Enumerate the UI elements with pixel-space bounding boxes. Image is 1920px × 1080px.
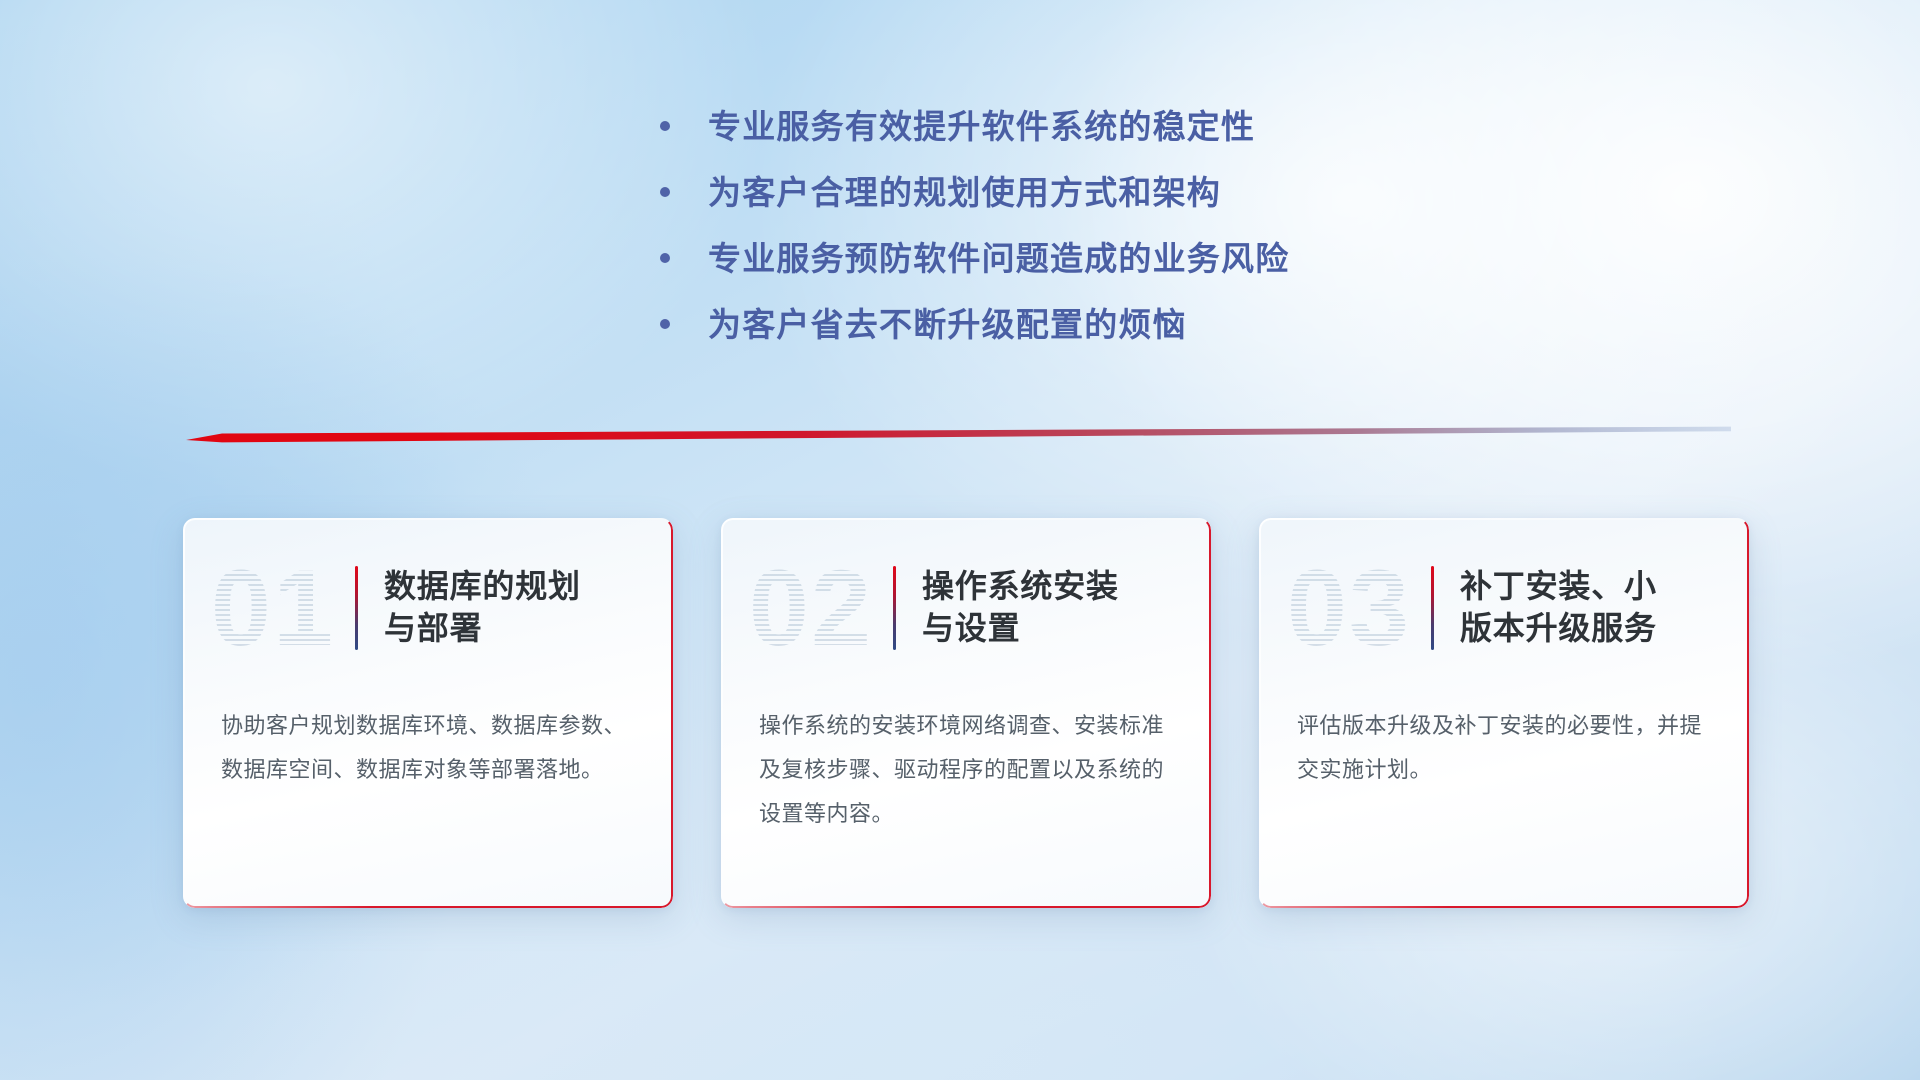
bullet-item-label: 专业服务预防软件问题造成的业务风险 bbox=[708, 240, 1289, 279]
service-card[interactable]: 03 补丁安装、小 版本升级服务 评估版本升级及补丁安装的必要性，并提交实施计划… bbox=[1259, 518, 1749, 908]
card-title-line-1: 数据库的规划 bbox=[384, 566, 581, 608]
bullet-dot-icon bbox=[660, 319, 670, 329]
service-card[interactable]: 01 数据库的规划 与部署 协助客户规划数据库环境、数据库参数、数据库空间、数据… bbox=[183, 518, 673, 908]
bullet-item-label: 为客户合理的规划使用方式和架构 bbox=[708, 174, 1221, 213]
bullet-dot-icon bbox=[660, 253, 670, 263]
bullet-dot-icon bbox=[660, 187, 670, 197]
card-header: 01 数据库的规划 与部署 bbox=[183, 518, 673, 698]
section-divider bbox=[186, 426, 1731, 443]
service-card-grid: 01 数据库的规划 与部署 协助客户规划数据库环境、数据库参数、数据库空间、数据… bbox=[183, 518, 1749, 908]
card-title-line-2: 与部署 bbox=[384, 608, 581, 650]
card-number-watermark: 01 bbox=[199, 554, 347, 662]
card-description: 操作系统的安装环境网络调查、安装标准及复核步骤、驱动程序的配置以及系统的设置等内… bbox=[721, 698, 1211, 836]
card-title: 数据库的规划 与部署 bbox=[384, 566, 581, 649]
card-title-divider-bar bbox=[355, 566, 358, 650]
card-header: 02 操作系统安装 与设置 bbox=[721, 518, 1211, 698]
card-number-watermark: 02 bbox=[737, 554, 885, 662]
card-description: 协助客户规划数据库环境、数据库参数、数据库空间、数据库对象等部署落地。 bbox=[183, 698, 673, 792]
card-title: 操作系统安装 与设置 bbox=[922, 566, 1119, 649]
slide-root: 专业服务有效提升软件系统的稳定性 为客户合理的规划使用方式和架构 专业服务预防软… bbox=[0, 0, 1920, 1080]
list-item: 为客户省去不断升级配置的烦恼 bbox=[660, 306, 1420, 372]
card-number-watermark: 03 bbox=[1275, 554, 1423, 662]
card-title-divider-bar bbox=[1431, 566, 1434, 650]
card-description: 评估版本升级及补丁安装的必要性，并提交实施计划。 bbox=[1259, 698, 1749, 792]
card-title-divider-bar bbox=[893, 566, 896, 650]
bullet-item-label: 为客户省去不断升级配置的烦恼 bbox=[708, 306, 1187, 345]
card-title-line-1: 操作系统安装 bbox=[922, 566, 1119, 608]
benefits-bullet-list: 专业服务有效提升软件系统的稳定性 为客户合理的规划使用方式和架构 专业服务预防软… bbox=[660, 108, 1420, 372]
card-title-line-2: 版本升级服务 bbox=[1460, 608, 1657, 650]
card-header: 03 补丁安装、小 版本升级服务 bbox=[1259, 518, 1749, 698]
card-title: 补丁安装、小 版本升级服务 bbox=[1460, 566, 1657, 649]
card-title-line-1: 补丁安装、小 bbox=[1460, 566, 1657, 608]
list-item: 专业服务预防软件问题造成的业务风险 bbox=[660, 240, 1420, 306]
bullet-dot-icon bbox=[660, 121, 670, 131]
bullet-item-label: 专业服务有效提升软件系统的稳定性 bbox=[708, 108, 1255, 147]
list-item: 专业服务有效提升软件系统的稳定性 bbox=[660, 108, 1420, 174]
card-title-line-2: 与设置 bbox=[922, 608, 1119, 650]
service-card[interactable]: 02 操作系统安装 与设置 操作系统的安装环境网络调查、安装标准及复核步骤、驱动… bbox=[721, 518, 1211, 908]
list-item: 为客户合理的规划使用方式和架构 bbox=[660, 174, 1420, 240]
